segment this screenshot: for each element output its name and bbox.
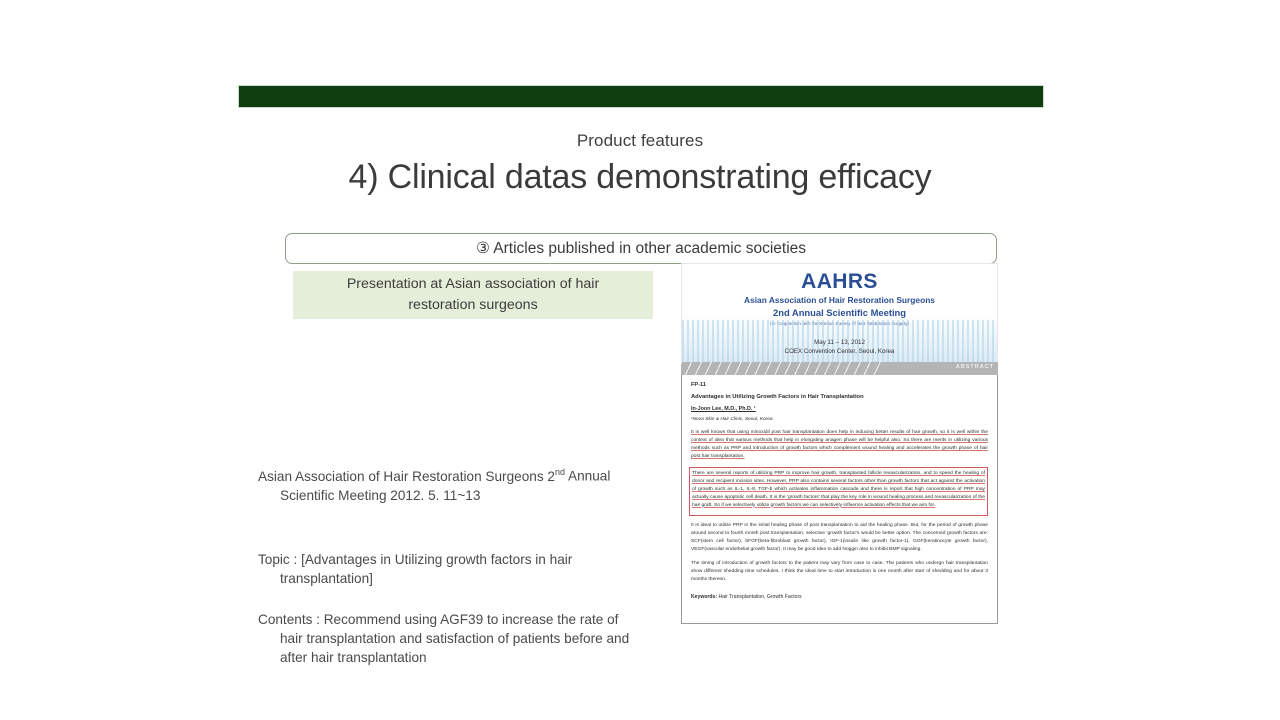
document-body: FP-11 Advantages in Utilizing Growth Fac… bbox=[681, 375, 998, 624]
accent-bar bbox=[238, 85, 1044, 108]
presentation-callout: Presentation at Asian association of hai… bbox=[293, 271, 653, 319]
topic-lead: Topic : [Advantages in Utilizing growth … bbox=[258, 552, 572, 567]
abstract-paragraph-3: It is ideal to utilize PRP in the initia… bbox=[691, 522, 988, 554]
document-section-band: ABSTRACT bbox=[681, 362, 998, 375]
aahrs-logo: AAHRS bbox=[682, 270, 997, 294]
band-tab-label: ABSTRACT bbox=[956, 364, 994, 370]
document-header: AAHRS Asian Association of Hair Restorat… bbox=[681, 263, 998, 362]
aahrs-date-line: May 11 – 13, 2012 bbox=[682, 338, 997, 347]
paper-title: Advantages in Utilizing Growth Factors i… bbox=[691, 394, 988, 400]
contents-continuation-1: hair transplantation and satisfaction of… bbox=[280, 631, 629, 646]
aahrs-organization-line: Asian Association of Hair Restoration Su… bbox=[682, 295, 997, 305]
topic-continuation: transplantation] bbox=[280, 571, 373, 586]
left-text-column: Asian Association of Hair Restoration Su… bbox=[258, 466, 658, 689]
paper-code: FP-11 bbox=[691, 382, 988, 388]
section-banner-label: ③ Articles published in other academic s… bbox=[476, 239, 806, 258]
aahrs-venue-line: COEX Convention Center, Seoul, Korea bbox=[682, 347, 997, 356]
paper-keywords: Keywords: Hair Transplantation, Growth F… bbox=[691, 594, 988, 600]
contents-continuation-2: after hair transplantation bbox=[280, 650, 427, 665]
slide-eyebrow: Product features bbox=[0, 131, 1280, 151]
contents-block: Contents : Recommend using AGF39 to incr… bbox=[258, 610, 658, 668]
callout-line-1: Presentation at Asian association of hai… bbox=[347, 274, 599, 295]
meeting-block: Asian Association of Hair Restoration Su… bbox=[258, 466, 658, 505]
aahrs-meeting-line: 2nd Annual Scientific Meeting bbox=[682, 307, 997, 318]
meeting-line-1-tail: Annual bbox=[565, 469, 610, 484]
topic-block: Topic : [Advantages in Utilizing growth … bbox=[258, 550, 658, 589]
highlighted-paragraph-box: There are several reports of utilizing P… bbox=[689, 467, 988, 517]
keywords-value: Hair Transplantation, Growth Factors bbox=[717, 594, 802, 600]
meeting-line-2: Scientific Meeting 2012. 5. 11~13 bbox=[280, 488, 480, 503]
abstract-document-image: AAHRS Asian Association of Hair Restorat… bbox=[681, 263, 998, 636]
section-banner: ③ Articles published in other academic s… bbox=[285, 233, 997, 264]
keywords-label: Keywords: bbox=[691, 594, 717, 600]
paper-author: In-Joon Lee, M.D., Ph.D. ¹ bbox=[691, 406, 988, 412]
meeting-line-1: Asian Association of Hair Restoration Su… bbox=[258, 469, 555, 484]
paper-affiliation: ¹Nova Skin & Hair Clinic, Seoul, Korea bbox=[691, 417, 988, 422]
callout-line-2: restoration surgeons bbox=[408, 295, 537, 316]
aahrs-date-venue: May 11 – 13, 2012 COEX Convention Center… bbox=[682, 338, 997, 357]
abstract-paragraph-4: The timing of introduction of growth fac… bbox=[691, 560, 988, 584]
band-slash-pattern bbox=[681, 362, 881, 375]
abstract-paragraph-1: It is well known that using minoxidil po… bbox=[691, 429, 988, 461]
meeting-ordinal-suffix: nd bbox=[555, 467, 565, 477]
contents-lead: Contents : Recommend using AGF39 to incr… bbox=[258, 612, 618, 627]
abstract-paragraph-2: There are several reports of utilizing P… bbox=[692, 470, 985, 510]
page-title: 4) Clinical datas demonstrating efficacy bbox=[0, 158, 1280, 197]
